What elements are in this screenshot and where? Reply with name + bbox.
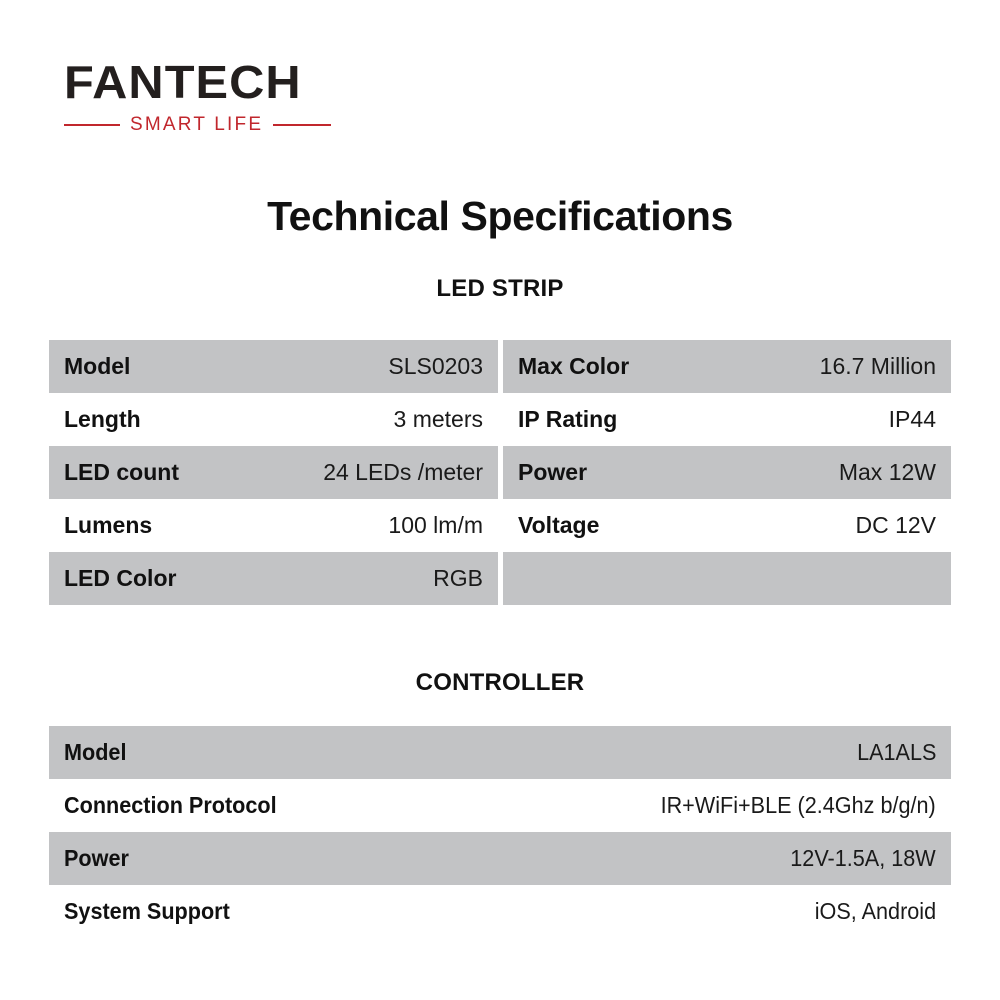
led-strip-table-right: Max Color 16.7 Million IP Rating IP44 Po… bbox=[503, 340, 951, 605]
table-row: Lumens 100 lm/m bbox=[49, 499, 498, 552]
row-value: LA1ALS bbox=[857, 739, 936, 766]
logo-wordmark: FANTECH bbox=[64, 56, 371, 108]
row-label: Power bbox=[518, 459, 587, 486]
logo-tagline-row: SMART LIFE bbox=[64, 114, 342, 136]
table-row: Power 12V-1.5A, 18W bbox=[49, 832, 951, 885]
table-row: IP Rating IP44 bbox=[503, 393, 951, 446]
logo-rule-left-icon bbox=[64, 124, 120, 126]
section-heading-controller: CONTROLLER bbox=[0, 669, 1000, 697]
table-row-empty bbox=[503, 552, 951, 605]
logo-tagline: SMART LIFE bbox=[120, 114, 273, 136]
table-row: Length 3 meters bbox=[49, 393, 498, 446]
table-row: LED Color RGB bbox=[49, 552, 498, 605]
row-label: Max Color bbox=[518, 353, 629, 380]
row-value: DC 12V bbox=[855, 512, 936, 539]
row-label: LED count bbox=[64, 459, 179, 486]
row-value: iOS, Android bbox=[815, 898, 936, 925]
brand-logo: FANTECH SMART LIFE bbox=[64, 56, 354, 136]
row-value: 3 meters bbox=[394, 406, 483, 433]
row-label: Length bbox=[64, 406, 141, 433]
row-label: IP Rating bbox=[518, 406, 617, 433]
controller-table: Model LA1ALS Connection Protocol IR+WiFi… bbox=[49, 726, 951, 938]
table-row: Connection Protocol IR+WiFi+BLE (2.4Ghz … bbox=[49, 779, 951, 832]
row-value: 24 LEDs /meter bbox=[323, 459, 483, 486]
led-strip-table-left: Model SLS0203 Length 3 meters LED count … bbox=[49, 340, 498, 605]
logo-rule-right-icon bbox=[273, 124, 331, 126]
table-row: System Support iOS, Android bbox=[49, 885, 951, 938]
row-value: SLS0203 bbox=[388, 353, 483, 380]
row-label: Lumens bbox=[64, 512, 152, 539]
row-label: Power bbox=[64, 845, 129, 872]
row-label: Model bbox=[64, 739, 126, 766]
row-label: System Support bbox=[64, 898, 230, 925]
row-value: IR+WiFi+BLE (2.4Ghz b/g/n) bbox=[661, 792, 936, 819]
table-row: Power Max 12W bbox=[503, 446, 951, 499]
page-title: Technical Specifications bbox=[0, 193, 1000, 240]
row-value: RGB bbox=[433, 565, 483, 592]
row-value: 16.7 Million bbox=[820, 353, 936, 380]
row-label: LED Color bbox=[64, 565, 176, 592]
row-value: 100 lm/m bbox=[388, 512, 483, 539]
table-row: Max Color 16.7 Million bbox=[503, 340, 951, 393]
row-label: Model bbox=[64, 353, 130, 380]
table-row: LED count 24 LEDs /meter bbox=[49, 446, 498, 499]
row-label: Voltage bbox=[518, 512, 599, 539]
row-value: 12V-1.5A, 18W bbox=[791, 845, 936, 872]
row-value: Max 12W bbox=[839, 459, 936, 486]
table-row: Model LA1ALS bbox=[49, 726, 951, 779]
table-row: Voltage DC 12V bbox=[503, 499, 951, 552]
table-row: Model SLS0203 bbox=[49, 340, 498, 393]
row-label: Connection Protocol bbox=[64, 792, 277, 819]
row-value: IP44 bbox=[889, 406, 936, 433]
section-heading-led-strip: LED STRIP bbox=[0, 275, 1000, 303]
